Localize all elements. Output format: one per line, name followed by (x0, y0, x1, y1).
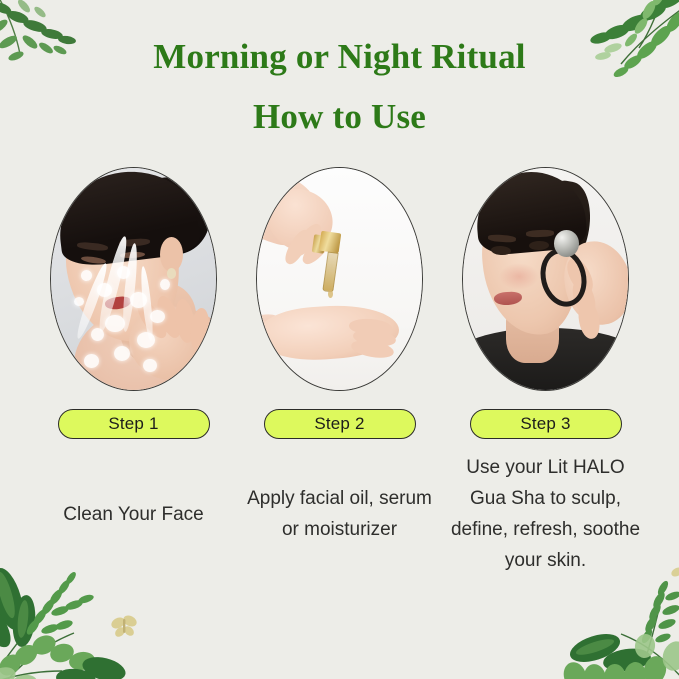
page-subtitle: How to Use (0, 96, 679, 138)
step-2-caption-wrap: Apply facial oil, serum or moisturizer (245, 439, 435, 589)
title-block: Morning or Night Ritual How to Use (0, 36, 679, 138)
step-3-caption: Use your Lit HALO Gua Sha to sculp, defi… (451, 452, 641, 576)
step-1-photo (50, 167, 217, 391)
step-1-caption-wrap: Clean Your Face (39, 439, 229, 589)
step-2-photo (256, 167, 423, 391)
step-3-photo (462, 167, 629, 391)
step-2-badge-label: Step 2 (314, 414, 364, 434)
scene-gua-sha (463, 168, 628, 390)
butterfly-icon (109, 613, 138, 638)
step-column-1: Step 1 Clean Your Face (38, 167, 230, 589)
steps-row: Step 1 Clean Your Face (0, 167, 679, 589)
step-2-caption: Apply facial oil, serum or moisturizer (245, 483, 435, 545)
step-1-badge: Step 1 (58, 409, 210, 439)
step-1-caption: Clean Your Face (63, 499, 204, 530)
step-3-caption-wrap: Use your Lit HALO Gua Sha to sculp, defi… (451, 439, 641, 589)
scene-dropper-palm (257, 168, 422, 390)
step-column-3: Step 3 Use your Lit HALO Gua Sha to scul… (450, 167, 642, 589)
how-to-use-poster: Morning or Night Ritual How to Use (0, 0, 679, 679)
page-title: Morning or Night Ritual (0, 36, 679, 78)
step-2-badge: Step 2 (264, 409, 416, 439)
step-column-2: Step 2 Apply facial oil, serum or moistu… (244, 167, 436, 589)
step-1-badge-label: Step 1 (108, 414, 158, 434)
step-3-badge-label: Step 3 (520, 414, 570, 434)
step-3-badge: Step 3 (470, 409, 622, 439)
scene-wash-face (51, 168, 216, 390)
